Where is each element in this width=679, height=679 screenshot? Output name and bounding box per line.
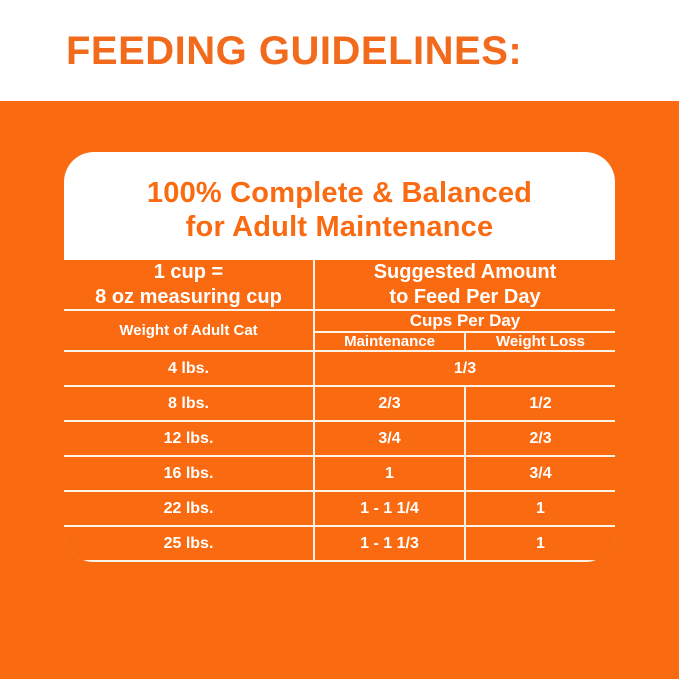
cell-weight-loss: 1 [465,526,615,561]
cell-weight: 8 lbs. [64,386,314,421]
cell-weight: 25 lbs. [64,526,314,561]
column-header-weight: Weight of Adult Cat [64,310,314,351]
cell-maintenance: 1 [314,456,465,491]
suggested-amount-note: Suggested Amount to Feed Per Day [314,260,615,310]
cell-weight: 4 lbs. [64,351,314,386]
table-row-header-top: Weight of Adult Cat Cups Per Day [64,310,615,332]
cell-weight: 22 lbs. [64,491,314,526]
cell-weight-loss: 3/4 [465,456,615,491]
table-row: 22 lbs. 1 - 1 1/4 1 [64,491,615,526]
cell-maintenance: 1 - 1 1/3 [314,526,465,561]
table-row-notes: 1 cup = 8 oz measuring cup Suggested Amo… [64,260,615,310]
suggested-amount-line-1: Suggested Amount [315,260,615,284]
feeding-card: 100% Complete & Balanced for Adult Maint… [64,152,615,562]
table-row: 16 lbs. 1 3/4 [64,456,615,491]
table-row: 25 lbs. 1 - 1 1/3 1 [64,526,615,561]
cell-weight: 12 lbs. [64,421,314,456]
cup-measure-note-line-1: 1 cup = [64,260,313,284]
cell-both: 1/3 [314,351,615,386]
cup-measure-note-line-2: 8 oz measuring cup [64,285,313,309]
cell-weight-loss: 2/3 [465,421,615,456]
column-header-cups-per-day: Cups Per Day [314,310,615,332]
table-row: 8 lbs. 2/3 1/2 [64,386,615,421]
feeding-table-body: 1 cup = 8 oz measuring cup Suggested Amo… [64,260,615,561]
orange-body: 100% Complete & Balanced for Adult Maint… [0,101,679,679]
cell-weight-loss: 1 [465,491,615,526]
feeding-table: 1 cup = 8 oz measuring cup Suggested Amo… [64,260,615,562]
card-heading-line-2: for Adult Maintenance [82,210,597,244]
cell-maintenance: 3/4 [314,421,465,456]
page-title: FEEDING GUIDELINES: [66,31,522,71]
card-heading: 100% Complete & Balanced for Adult Maint… [64,152,615,260]
card-heading-line-1: 100% Complete & Balanced [82,176,597,210]
suggested-amount-line-2: to Feed Per Day [315,285,615,309]
cell-maintenance: 2/3 [314,386,465,421]
feeding-guidelines-page: FEEDING GUIDELINES: 100% Complete & Bala… [0,0,679,679]
table-row: 4 lbs. 1/3 [64,351,615,386]
column-header-weight-loss: Weight Loss [465,332,615,351]
page-banner: FEEDING GUIDELINES: [0,0,679,101]
column-header-maintenance: Maintenance [314,332,465,351]
cell-weight: 16 lbs. [64,456,314,491]
table-row: 12 lbs. 3/4 2/3 [64,421,615,456]
cell-weight-loss: 1/2 [465,386,615,421]
cell-maintenance: 1 - 1 1/4 [314,491,465,526]
cup-measure-note: 1 cup = 8 oz measuring cup [64,260,314,310]
